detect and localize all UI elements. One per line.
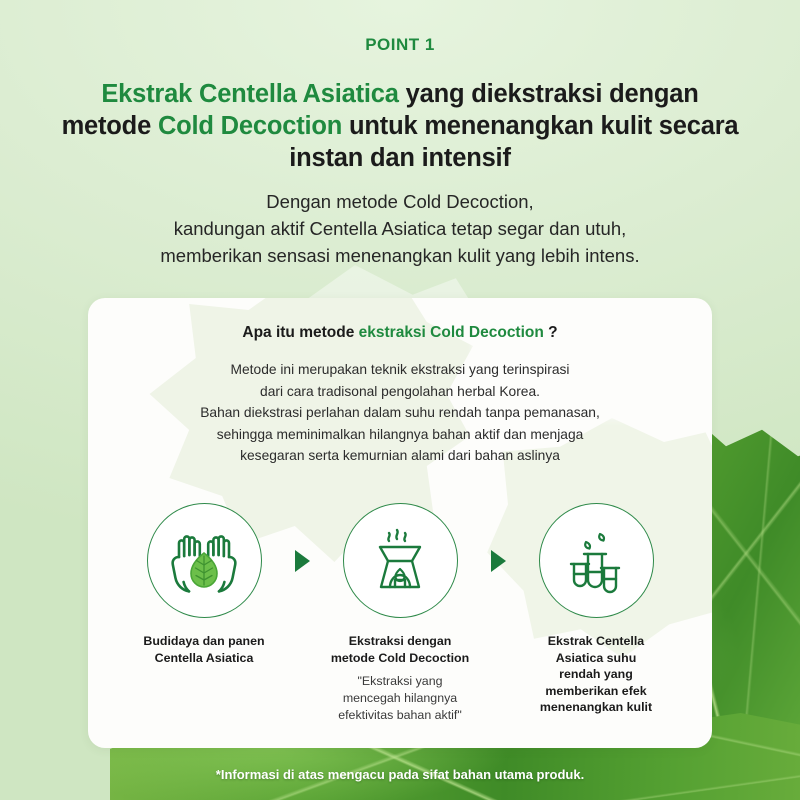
- process-step-2: Ekstraksi dengan metode Cold Decoction "…: [315, 503, 485, 724]
- step-caption-line: Asiatica suhu: [540, 650, 652, 667]
- card-body-line: Metode ini merupakan teknik ekstraksi ya…: [88, 359, 712, 381]
- card-body: Metode ini merupakan teknik ekstraksi ya…: [88, 359, 712, 467]
- herbal-decoction-burner-icon: [364, 525, 436, 597]
- small-leaf-2: [599, 534, 604, 541]
- step-3-circle: [539, 503, 654, 618]
- step-2-note: "Ekstraksi yang mencegah hilangnya efekt…: [338, 673, 462, 724]
- step-note-line: "Ekstraksi yang: [338, 673, 462, 690]
- step-1-circle: [147, 503, 262, 618]
- point-label: POINT 1: [0, 35, 800, 55]
- test-tubes-with-leaves-icon: [562, 526, 630, 596]
- step-2-circle: [343, 503, 458, 618]
- small-leaf-1: [585, 542, 590, 549]
- step-caption-line: menenangkan kulit: [540, 699, 652, 716]
- process-steps: Budidaya dan panen Centella Asiatica: [88, 503, 712, 724]
- process-step-1: Budidaya dan panen Centella Asiatica: [119, 503, 289, 666]
- step-note-line: efektivitas bahan aktif": [338, 707, 462, 724]
- step-1-caption: Budidaya dan panen Centella Asiatica: [143, 633, 264, 666]
- card-body-line: kesegaran serta kemurnian alami dari bah…: [88, 445, 712, 467]
- step-3-caption: Ekstrak Centella Asiatica suhu rendah ya…: [540, 633, 652, 716]
- arrow-right-icon: [289, 503, 315, 618]
- step-caption-line: Centella Asiatica: [143, 650, 264, 667]
- card-body-line: sehingga meminimalkan hilangnya bahan ak…: [88, 424, 712, 446]
- page-headline: Ekstrak Centella Asiatica yang diekstrak…: [60, 78, 740, 174]
- step-caption-line: rendah yang: [540, 666, 652, 683]
- step-caption-line: Ekstraksi dengan: [331, 633, 469, 650]
- step-note-line: mencegah hilangnya: [338, 690, 462, 707]
- step-caption-line: memberikan efek: [540, 683, 652, 700]
- hands-holding-leaf-icon: [167, 527, 241, 595]
- step-caption-line: metode Cold Decoction: [331, 650, 469, 667]
- card-body-line: dari cara tradisonal pengolahan herbal K…: [88, 381, 712, 403]
- headline-segment-3: Cold Decoction: [158, 112, 342, 140]
- footer-disclaimer: *Informasi di atas mengacu pada sifat ba…: [0, 767, 800, 782]
- arrow-right-icon: [485, 503, 511, 618]
- card-body-line: Bahan diekstrasi perlahan dalam suhu ren…: [88, 402, 712, 424]
- card-title-segment-1: Apa itu metode: [242, 324, 358, 341]
- card-title-segment-2: ekstraksi Cold Decoction: [359, 324, 544, 341]
- subcopy-line: kandungan aktif Centella Asiatica tetap …: [70, 215, 730, 242]
- step-2-caption: Ekstraksi dengan metode Cold Decoction: [331, 633, 469, 666]
- subcopy-line: Dengan metode Cold Decoction,: [70, 188, 730, 215]
- info-card: Apa itu metode ekstraksi Cold Decoction …: [88, 298, 712, 748]
- card-title-segment-3: ?: [544, 324, 558, 341]
- page-subcopy: Dengan metode Cold Decoction, kandungan …: [70, 188, 730, 269]
- subcopy-line: memberikan sensasi menenangkan kulit yan…: [70, 242, 730, 269]
- step-caption-line: Budidaya dan panen: [143, 633, 264, 650]
- card-title: Apa itu metode ekstraksi Cold Decoction …: [88, 324, 712, 342]
- headline-segment-1: Ekstrak Centella Asiatica: [101, 80, 398, 108]
- step-caption-line: Ekstrak Centella: [540, 633, 652, 650]
- process-step-3: Ekstrak Centella Asiatica suhu rendah ya…: [511, 503, 681, 716]
- headline-segment-4: untuk menenangkan kulit secara instan da…: [289, 112, 738, 172]
